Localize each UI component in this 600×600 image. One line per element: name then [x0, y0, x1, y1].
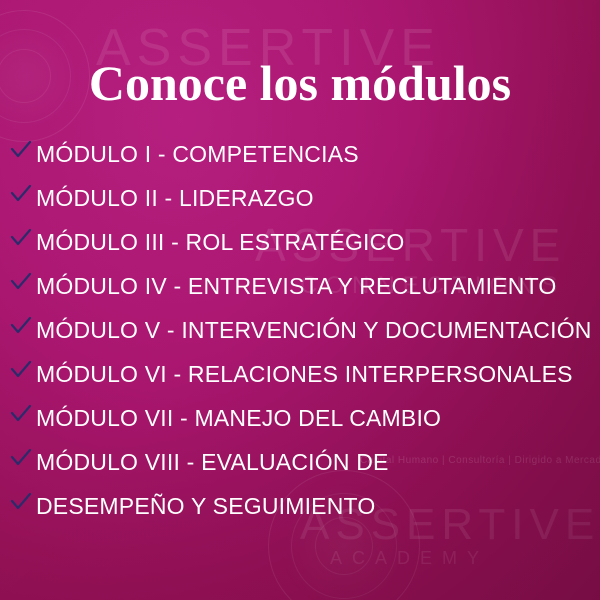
list-item: MÓDULO III - ROL ESTRATÉGICO [0, 228, 600, 272]
check-icon [10, 184, 36, 204]
check-icon [10, 404, 36, 424]
module-label: MÓDULO VIII - EVALUACIÓN DE [36, 448, 389, 476]
page-title: Conoce los módulos [0, 54, 600, 112]
list-item: MÓDULO VII - MANEJO DEL CAMBIO [0, 404, 600, 448]
list-item: MÓDULO I - COMPETENCIAS [0, 140, 600, 184]
list-item: MÓDULO IV - ENTREVISTA Y RECLUTAMIENTO [0, 272, 600, 316]
check-icon [10, 360, 36, 380]
module-label: MÓDULO VI - RELACIONES INTERPERSONALES [36, 360, 573, 388]
module-label: MÓDULO V - INTERVENCIÓN Y DOCUMENTACIÓN [36, 316, 592, 344]
list-item: MÓDULO II - LIDERAZGO [0, 184, 600, 228]
module-label: MÓDULO III - ROL ESTRATÉGICO [36, 228, 405, 256]
check-icon [10, 316, 36, 336]
list-item: MÓDULO V - INTERVENCIÓN Y DOCUMENTACIÓN [0, 316, 600, 360]
list-item: DESEMPEÑO Y SEGUIMIENTO [0, 492, 600, 536]
check-icon [10, 448, 36, 468]
poster-canvas: ASSERTIVE ASSERTIVE CONNECTIONS Capital … [0, 0, 600, 600]
check-icon [10, 140, 36, 160]
check-icon [10, 492, 36, 512]
list-item: MÓDULO VIII - EVALUACIÓN DE [0, 448, 600, 492]
module-label: DESEMPEÑO Y SEGUIMIENTO [36, 492, 375, 520]
check-icon [10, 228, 36, 248]
module-label: MÓDULO II - LIDERAZGO [36, 184, 314, 212]
check-icon [10, 272, 36, 292]
poster-content: Conoce los módulos MÓDULO I - COMPETENCI… [0, 0, 600, 600]
module-list: MÓDULO I - COMPETENCIAS MÓDULO II - LIDE… [0, 140, 600, 536]
list-item: MÓDULO VI - RELACIONES INTERPERSONALES [0, 360, 600, 404]
module-label: MÓDULO VII - MANEJO DEL CAMBIO [36, 404, 441, 432]
module-label: MÓDULO IV - ENTREVISTA Y RECLUTAMIENTO [36, 272, 557, 300]
module-label: MÓDULO I - COMPETENCIAS [36, 140, 359, 168]
